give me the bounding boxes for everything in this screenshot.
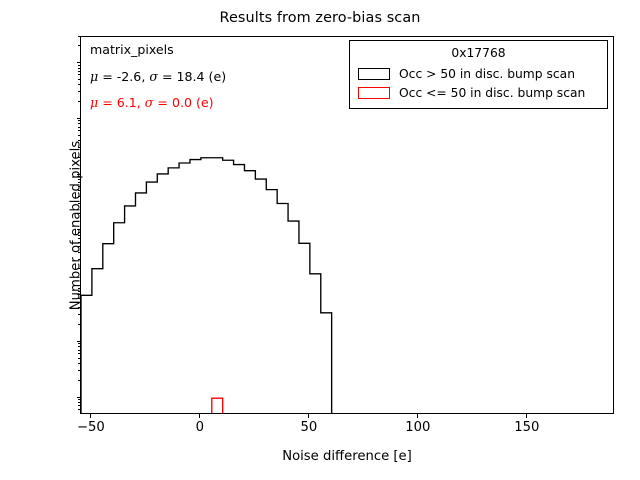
x-tick-label: −50	[77, 420, 105, 435]
legend-swatch-icon	[358, 68, 390, 80]
x-tick-label: 50	[300, 420, 317, 435]
annotation-black-mu-value: = -2.6,	[98, 69, 149, 84]
annotation-red-sigma-value: = 0.0 (e)	[153, 95, 213, 110]
legend-swatch-icon	[358, 87, 390, 99]
matplotlib-figure: Results from zero-bias scan 100101102103…	[0, 0, 640, 480]
legend-entries: Occ > 50 in disc. bump scanOcc <= 50 in …	[358, 64, 599, 102]
x-axis-label: Noise difference [e]	[80, 449, 614, 464]
statistics-annotation: matrix_pixels μ = -2.6, σ = 18.4 (e) μ =…	[90, 44, 226, 110]
legend-label: Occ > 50 in disc. bump scan	[399, 67, 575, 81]
histogram-step-occ-gt-50	[81, 158, 332, 414]
annotation-red-stats: μ = 6.1, σ = 0.0 (e)	[90, 97, 226, 110]
annotation-dataset-name: matrix_pixels	[90, 44, 226, 57]
annotation-black-sigma-value: = 18.4 (e)	[158, 69, 226, 84]
chart-title: Results from zero-bias scan	[0, 10, 640, 26]
legend-title: 0x17768	[358, 46, 599, 60]
x-tick-label: 0	[196, 420, 204, 435]
legend-entry[interactable]: Occ <= 50 in disc. bump scan	[358, 83, 599, 102]
series-occ-le-50	[212, 398, 223, 414]
x-tick-major	[417, 414, 418, 418]
series-occ-gt-50	[81, 158, 332, 414]
histogram-step-occ-le-50	[212, 398, 223, 414]
x-tick-major	[526, 414, 527, 418]
x-tick-major	[90, 414, 91, 418]
mu-symbol-black: μ	[90, 69, 98, 84]
mu-symbol-red: μ	[90, 95, 98, 110]
annotation-red-mu-value: = 6.1,	[98, 95, 145, 110]
x-tick-label: 150	[514, 420, 539, 435]
x-tick-label: 100	[405, 420, 430, 435]
legend-label: Occ <= 50 in disc. bump scan	[399, 86, 585, 100]
x-tick-major	[308, 414, 309, 418]
sigma-symbol-black: σ	[149, 69, 158, 84]
x-tick-major	[199, 414, 200, 418]
annotation-black-stats: μ = -2.6, σ = 18.4 (e)	[90, 71, 226, 84]
legend-entry[interactable]: Occ > 50 in disc. bump scan	[358, 64, 599, 83]
legend: 0x17768 Occ > 50 in disc. bump scanOcc <…	[349, 40, 608, 109]
